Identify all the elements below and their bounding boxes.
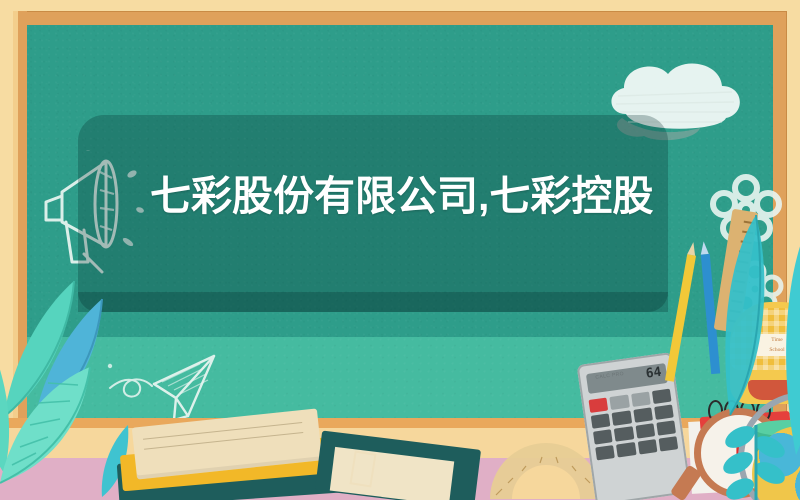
leaf-group-right (700, 215, 800, 500)
calculator-key-times[interactable] (637, 439, 657, 454)
calculator-key-0[interactable] (635, 423, 655, 438)
calculator-key-dot[interactable] (656, 420, 676, 435)
calculator-keypad[interactable] (589, 389, 679, 461)
calculator-key-1[interactable] (610, 395, 630, 410)
calculator-brand: CALC PRO (595, 371, 624, 381)
calculator-key-4[interactable] (591, 413, 611, 428)
calculator-key-plus[interactable] (595, 445, 615, 460)
calculator-key-minus[interactable] (616, 442, 636, 457)
banner-canvas: 七彩股份有限公司,七彩控股 (0, 0, 800, 500)
calculator-key-9[interactable] (614, 426, 634, 441)
calculator-display-value: 64 (645, 365, 663, 382)
page-title: 七彩股份有限公司,七彩控股 (150, 168, 660, 225)
calculator-screen: CALC PRO 64 (586, 363, 668, 394)
calculator-key-6[interactable] (633, 407, 653, 422)
calculator-key-5[interactable] (612, 410, 632, 425)
calculator-key-8[interactable] (593, 429, 613, 444)
calculator-key-3[interactable] (652, 389, 672, 404)
calculator-key-equals[interactable] (658, 436, 678, 451)
calculator-key-2[interactable] (631, 392, 651, 407)
calculator-key-7[interactable] (654, 404, 674, 419)
calculator-key-ac[interactable] (589, 398, 609, 413)
